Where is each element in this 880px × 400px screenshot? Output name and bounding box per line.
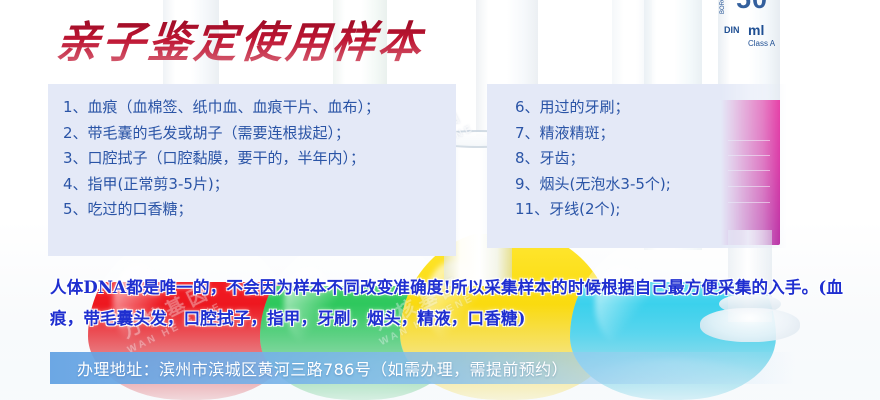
page-title: 亲子鉴定使用样本 [54, 20, 427, 67]
list-item: 11、牙线(2个); [515, 197, 787, 223]
list-item: 4、指甲(正常剪3-5片)； [63, 172, 456, 198]
cylinder-brand-label: BOROSIL [720, 0, 726, 14]
list-item: 2、带毛囊的毛发或胡子（需要连根拔起）； [63, 121, 456, 147]
sample-list-right: 6、用过的牙刷； 7、精液精斑； 8、牙齿； 9、烟头(无泡水3-5个); 11… [515, 95, 787, 223]
list-item: 3、口腔拭子（口腔黏膜，要干的，半年内）； [63, 146, 456, 172]
address-text: 办理地址：滨州市滨城区黄河三路786号（如需办理，需提前预约） [77, 356, 568, 380]
note-paragraph: 人体DNA都是唯一的，不会因为样本不同改变准确度!所以采集样本的时候根据自己最方… [50, 272, 850, 334]
list-item: 7、精液精斑； [515, 121, 787, 147]
list-item: 6、用过的牙刷； [515, 95, 787, 121]
list-item: 1、血痕（血棉签、纸巾血、血痕干片、血布）； [63, 95, 456, 121]
sample-list-panel-right: 6、用过的牙刷； 7、精液精斑； 8、牙齿； 9、烟头(无泡水3-5个); 11… [487, 84, 787, 248]
sample-list-panel-left: 1、血痕（血棉签、纸巾血、血痕干片、血布）； 2、带毛囊的毛发或胡子（需要连根拔… [48, 84, 456, 256]
poster-root: 50 DIN ml Class A BOROSIL 万核基因 WAN [0, 0, 880, 400]
list-item: 9、烟头(无泡水3-5个); [515, 172, 787, 198]
address-bar: 办理地址：滨州市滨城区黄河三路786号（如需办理，需提前预约） [50, 352, 795, 384]
cylinder-unit-label: ml [748, 23, 764, 37]
cylinder-standard-label: DIN [724, 26, 740, 35]
sample-list-left: 1、血痕（血棉签、纸巾血、血痕干片、血布）； 2、带毛囊的毛发或胡子（需要连根拔… [63, 95, 456, 223]
cylinder-class-label: Class A [748, 40, 775, 48]
list-item: 5、吃过的口香糖； [63, 197, 456, 223]
list-item: 8、牙齿； [515, 146, 787, 172]
cylinder-volume-label: 50 [736, 0, 768, 13]
